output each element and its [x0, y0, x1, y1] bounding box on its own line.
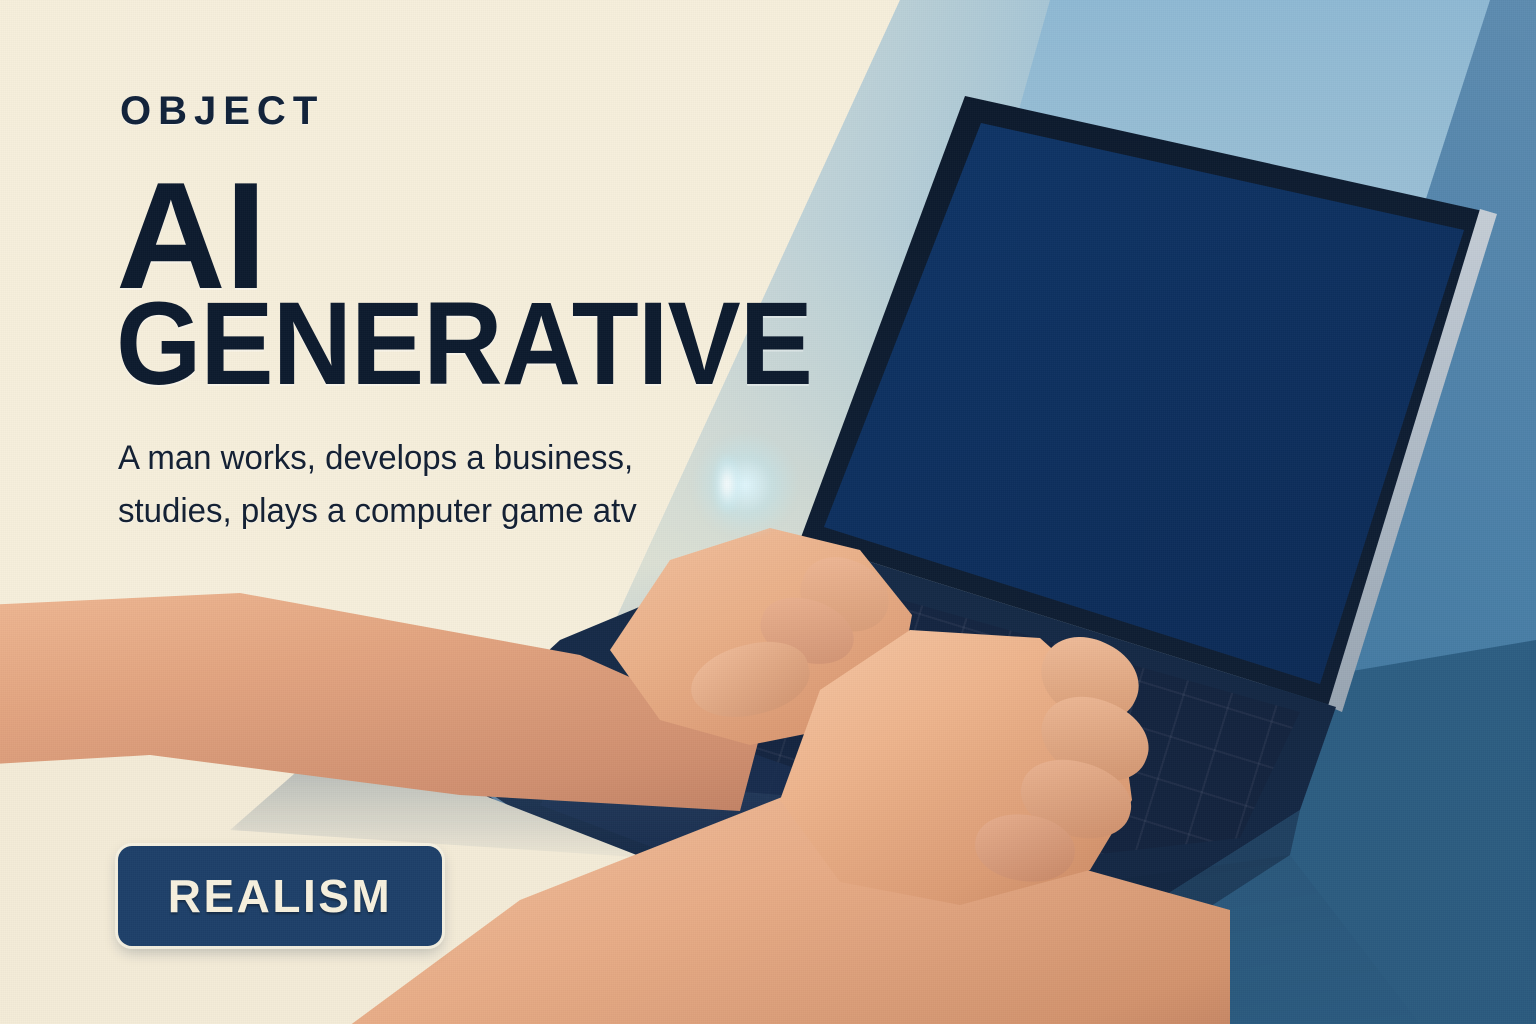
headline-line-2: GENERATIVE	[116, 285, 812, 403]
realism-cta-label: REALISM	[168, 869, 393, 923]
eyebrow-label: OBJECT	[120, 89, 324, 134]
promo-banner: OBJECT AI GENERATIVE A man works, develo…	[0, 0, 1536, 1024]
description-line-1: A man works, develops a business,	[118, 432, 739, 485]
description-line-2: studies, plays a computer game atv	[118, 485, 739, 538]
description-text: A man works, develops a business, studie…	[118, 432, 739, 537]
realism-cta-button[interactable]: REALISM	[118, 846, 442, 946]
